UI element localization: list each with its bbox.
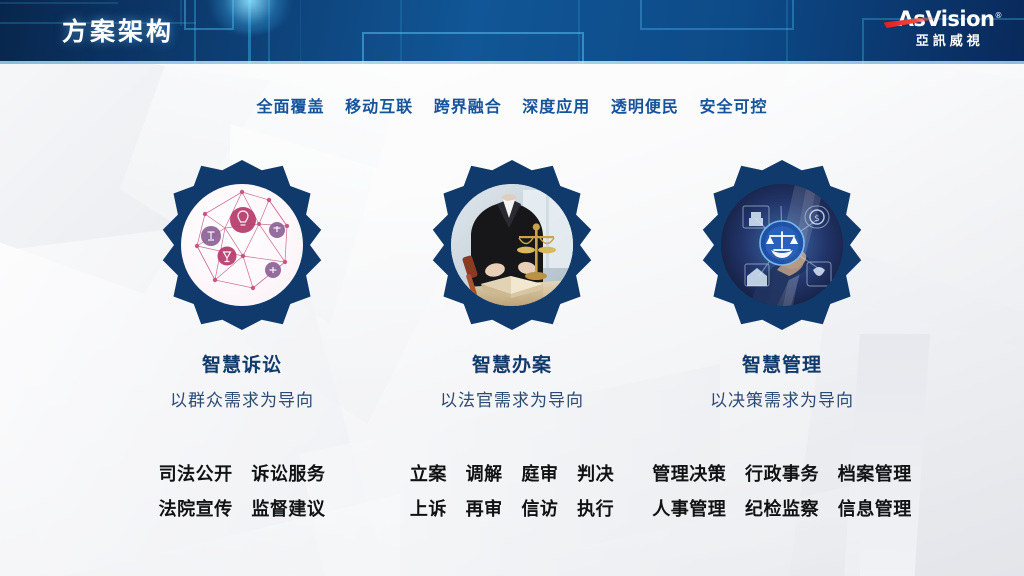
tag-item[interactable]: 上诉: [410, 499, 447, 520]
header-deco-box: [362, 32, 584, 64]
tag-item[interactable]: 立案: [410, 464, 447, 485]
badge-image-network-graph: [181, 184, 303, 306]
header-bar: 方案架构 AsVision® 亞訊威視: [0, 0, 1024, 64]
tagline-item: 跨界融合: [434, 97, 502, 116]
tag-item[interactable]: 档案管理: [838, 464, 912, 485]
header-deco-line: [578, 0, 580, 64]
judge-photo-illustration: [451, 184, 573, 306]
badge-smart-management[interactable]: $: [697, 160, 867, 330]
tagline-item: 全面覆盖: [257, 97, 325, 116]
network-graph-illustration: [181, 184, 303, 306]
tag-item[interactable]: 再审: [466, 499, 503, 520]
columns-container: 智慧诉讼 以群众需求为导向 司法公开 诉讼服务 法院宣传 监督建议: [0, 160, 1024, 560]
column-smart-management[interactable]: $: [612, 160, 952, 527]
tagline-item: 深度应用: [522, 97, 590, 116]
tag-item[interactable]: 执行: [577, 499, 614, 520]
tag-item[interactable]: 调解: [466, 464, 503, 485]
judge-with-gavel-icon: [451, 184, 573, 306]
logo-wordmark: AsVision®: [898, 9, 1002, 30]
badge-image-hologram: $: [721, 184, 843, 306]
tag-item[interactable]: 纪检监察: [745, 499, 819, 520]
tag-item[interactable]: 监督建议: [251, 499, 325, 520]
tagline-item: 透明便民: [611, 97, 679, 116]
tag-item[interactable]: 信访: [521, 499, 558, 520]
tagline: 全面覆盖 移动互联 跨界融合 深度应用 透明便民 安全可控: [0, 93, 1024, 117]
brand-logo: AsVision® 亞訊威視: [898, 9, 1002, 48]
slide-root: 方案架构 AsVision® 亞訊威視 全面覆盖 移动互联 跨界融合 深度应用 …: [0, 0, 1024, 576]
header-deco-line: [180, 0, 182, 26]
tag-item[interactable]: 诉讼服务: [251, 464, 325, 485]
svg-text:$: $: [814, 214, 820, 224]
header-deco-line: [300, 0, 301, 64]
logo-subtext: 亞訊威視: [898, 35, 1002, 48]
column-title: 智慧管理: [612, 350, 952, 377]
tag-item[interactable]: 信息管理: [838, 499, 912, 520]
tag-item[interactable]: 判决: [577, 464, 614, 485]
tag-item[interactable]: 庭审: [521, 464, 558, 485]
tagline-item: 安全可控: [699, 97, 767, 116]
header-deco-line: [0, 2, 118, 4]
tag-item[interactable]: 法院宣传: [159, 499, 233, 520]
header-deco-box: [640, 0, 794, 30]
header-deco-line: [786, 0, 788, 64]
page-title: 方案架构: [62, 12, 174, 48]
hand-hologram-illustration: $: [721, 184, 843, 306]
hand-touching-justice-hologram-icon: $: [721, 184, 843, 306]
badge-smart-case-handling[interactable]: [427, 160, 597, 330]
logo-registered-mark: ®: [995, 11, 1003, 20]
tag-item[interactable]: 管理决策: [652, 464, 726, 485]
tag-row: 人事管理 纪检监察 信息管理: [612, 492, 952, 527]
tagline-item: 移动互联: [345, 97, 413, 116]
column-subtitle: 以决策需求为导向: [612, 386, 952, 411]
tag-item[interactable]: 司法公开: [159, 464, 233, 485]
tag-item[interactable]: 行政事务: [745, 464, 819, 485]
header-underline: [0, 61, 1024, 64]
badge-image-judge: [451, 184, 573, 306]
network-graph-icon: [181, 184, 303, 306]
tag-item[interactable]: 人事管理: [652, 499, 726, 520]
badge-smart-litigation[interactable]: [157, 160, 327, 330]
column-tags: 管理决策 行政事务 档案管理 人事管理 纪检监察 信息管理: [612, 457, 952, 527]
tag-row: 管理决策 行政事务 档案管理: [612, 457, 952, 492]
